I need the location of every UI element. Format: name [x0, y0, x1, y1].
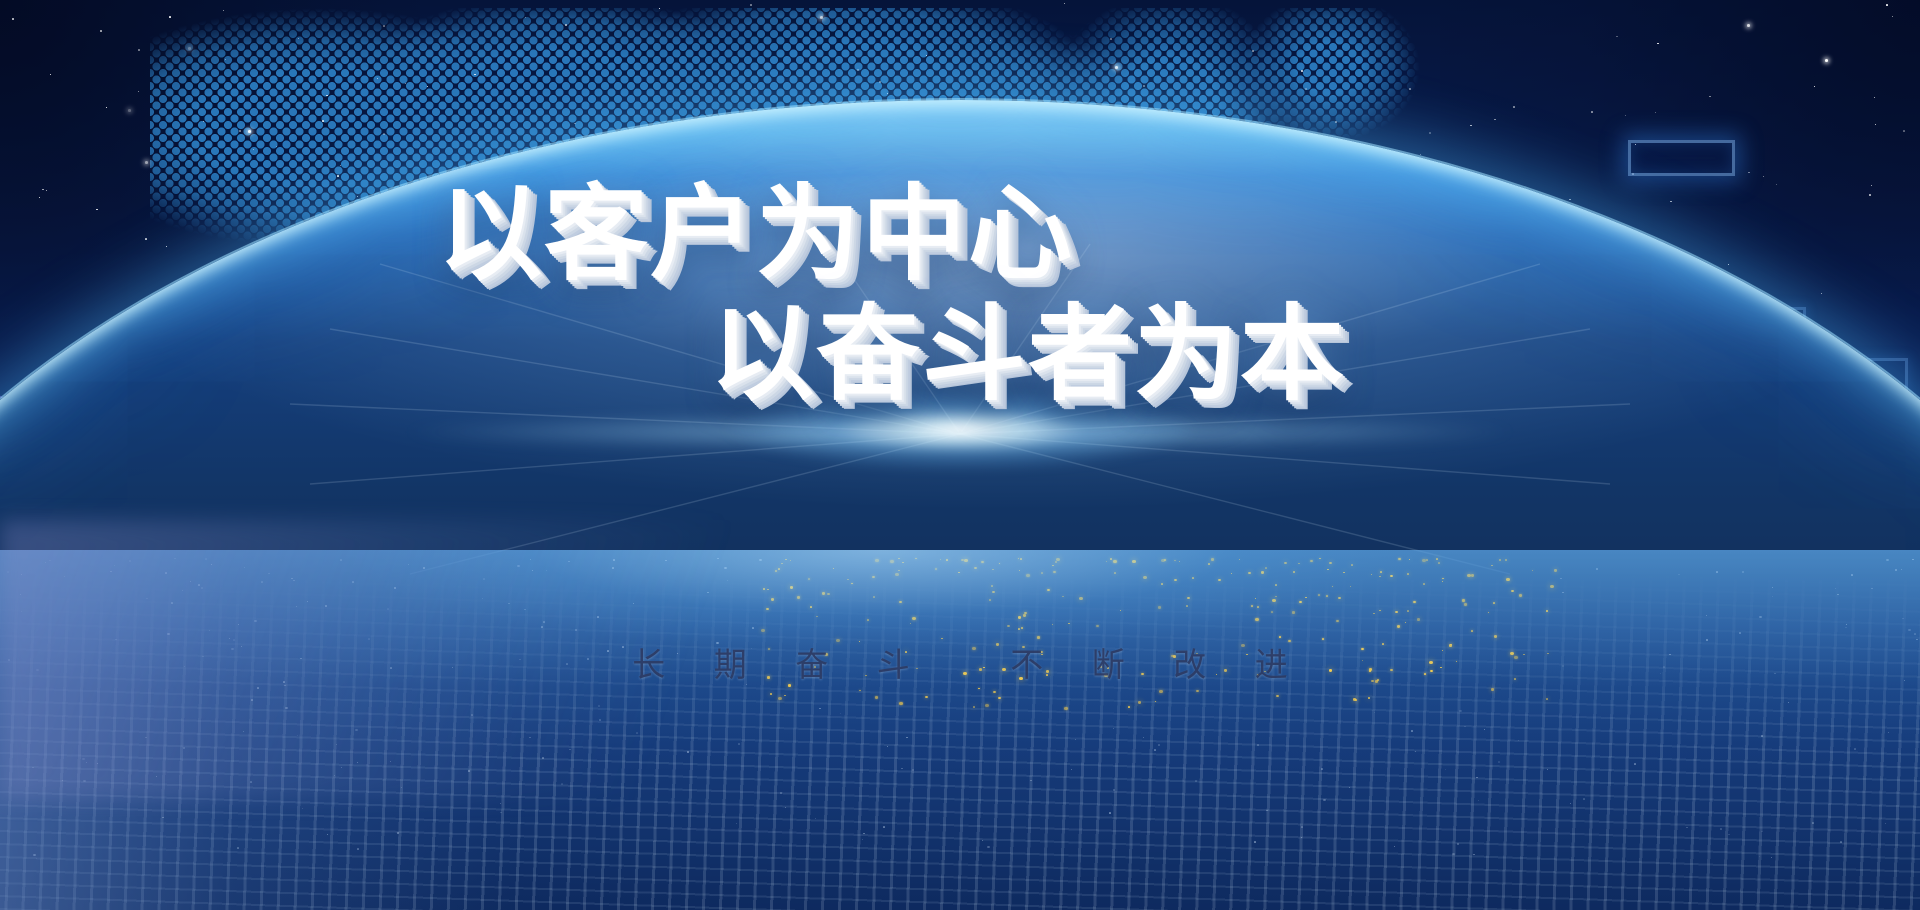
aerial-night-city	[0, 550, 1920, 910]
city-left-fade	[0, 550, 520, 910]
banner-canvas: 以客户为中心 以奋斗者为本 长 期 奋 斗 不 断 改 进	[0, 0, 1920, 910]
